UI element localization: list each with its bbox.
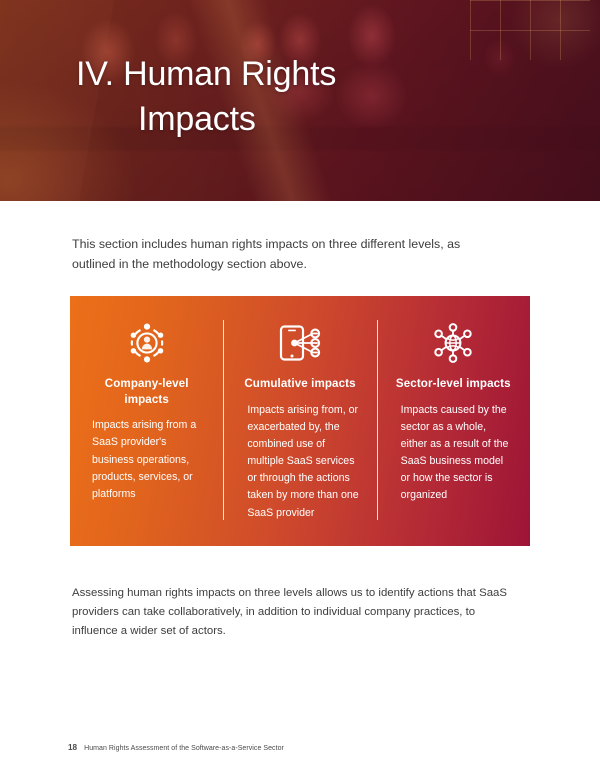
impact-column-company-level: Company-level impacts Impacts arising fr…: [70, 296, 223, 546]
page-footer: 18 Human Rights Assessment of the Softwa…: [68, 743, 284, 752]
page-title-line-2: Impacts: [76, 97, 560, 142]
globe-network-icon: [430, 320, 476, 366]
page-title-line-1: IV. Human Rights: [76, 55, 336, 93]
impact-column-body: Impacts arising from, or exacerbated by,…: [237, 402, 362, 522]
mobile-device-nodes-icon: [277, 320, 323, 366]
impact-column-sector-level: Sector-level impacts Impacts caused by t…: [377, 296, 530, 546]
impact-column-body: Impacts arising from a SaaS provider's b…: [84, 417, 209, 503]
footer-page-number: 18: [68, 743, 77, 752]
hero-grid-decoration: [470, 0, 590, 60]
hero-banner: IV. Human Rights Impacts: [0, 0, 600, 201]
impact-column-title: Company-level impacts: [84, 376, 209, 407]
page-title: IV. Human Rights Impacts: [76, 52, 560, 142]
person-in-circle-network-icon: [125, 320, 169, 366]
impact-column-body: Impacts caused by the sector as a whole,…: [391, 402, 516, 505]
impact-column-title: Cumulative impacts: [244, 376, 355, 392]
intro-paragraph: This section includes human rights impac…: [72, 234, 476, 274]
impact-column-cumulative: Cumulative impacts Impacts arising from,…: [223, 296, 376, 546]
footer-document-title: Human Rights Assessment of the Software-…: [84, 745, 284, 752]
impact-column-title: Sector-level impacts: [396, 376, 511, 392]
outro-paragraph: Assessing human rights impacts on three …: [72, 584, 522, 641]
impact-levels-panel: Company-level impacts Impacts arising fr…: [70, 296, 530, 546]
